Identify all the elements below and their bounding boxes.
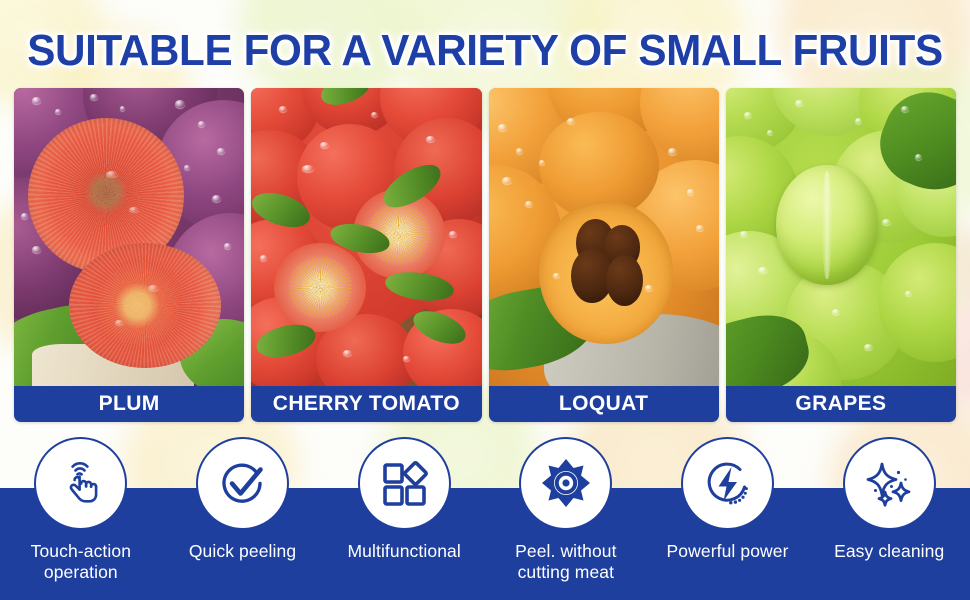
- fruit-photo-cherry-tomato: [251, 88, 481, 386]
- fruit-card-label: PLUM: [14, 386, 244, 422]
- check-circle-icon: [215, 456, 271, 512]
- fruit-photo-plum: [14, 88, 244, 386]
- fruit-card-label: CHERRY TOMATO: [251, 386, 481, 422]
- feature-quick-peeling[interactable]: Quick peeling: [162, 432, 324, 600]
- feature-label: Multifunctional: [347, 541, 460, 562]
- feature-peel-without-cutting-meat[interactable]: Peel. without cutting meat: [485, 432, 647, 600]
- feature-label: Touch-action operation: [6, 541, 156, 583]
- feature-easy-cleaning[interactable]: Easy cleaning: [808, 432, 970, 600]
- feature-powerful-power[interactable]: Powerful power: [647, 432, 809, 600]
- fruit-card-grapes[interactable]: GRAPES: [726, 88, 956, 422]
- feature-icon-circle: [519, 437, 612, 530]
- fruit-photo-loquat: [489, 88, 719, 386]
- fruit-card-loquat[interactable]: LOQUAT: [489, 88, 719, 422]
- fruit-card-row: PLUM: [14, 88, 956, 422]
- shapes-grid-icon: [377, 457, 431, 511]
- lightning-bolt-icon: [700, 456, 756, 512]
- feature-icon-circle: [358, 437, 451, 530]
- feature-multifunctional[interactable]: Multifunctional: [323, 432, 485, 600]
- feature-label: Easy cleaning: [834, 541, 944, 562]
- fruit-card-label: LOQUAT: [489, 386, 719, 422]
- feature-icon-circle: [34, 437, 127, 530]
- feature-label: Powerful power: [667, 541, 789, 562]
- fruit-photo-grapes: [726, 88, 956, 386]
- fruit-card-plum[interactable]: PLUM: [14, 88, 244, 422]
- fruit-card-cherry-tomato[interactable]: CHERRY TOMATO: [251, 88, 481, 422]
- touch-hand-icon: [53, 456, 109, 512]
- saw-blade-icon: [537, 455, 595, 513]
- feature-label: Peel. without cutting meat: [491, 541, 641, 583]
- product-infographic: SUITABLE FOR A VARIETY OF SMALL FRUITS: [0, 0, 970, 600]
- feature-icon-circle: [843, 437, 936, 530]
- page-title: SUITABLE FOR A VARIETY OF SMALL FRUITS: [19, 26, 950, 76]
- feature-touch-action-operation[interactable]: Touch-action operation: [0, 432, 162, 600]
- feature-icon-circle: [196, 437, 289, 530]
- feature-row: Touch-action operation Quick peeling: [0, 432, 970, 600]
- feature-icon-circle: [681, 437, 774, 530]
- feature-label: Quick peeling: [189, 541, 296, 562]
- fruit-card-label: GRAPES: [726, 386, 956, 422]
- sparkle-icon: [861, 456, 917, 512]
